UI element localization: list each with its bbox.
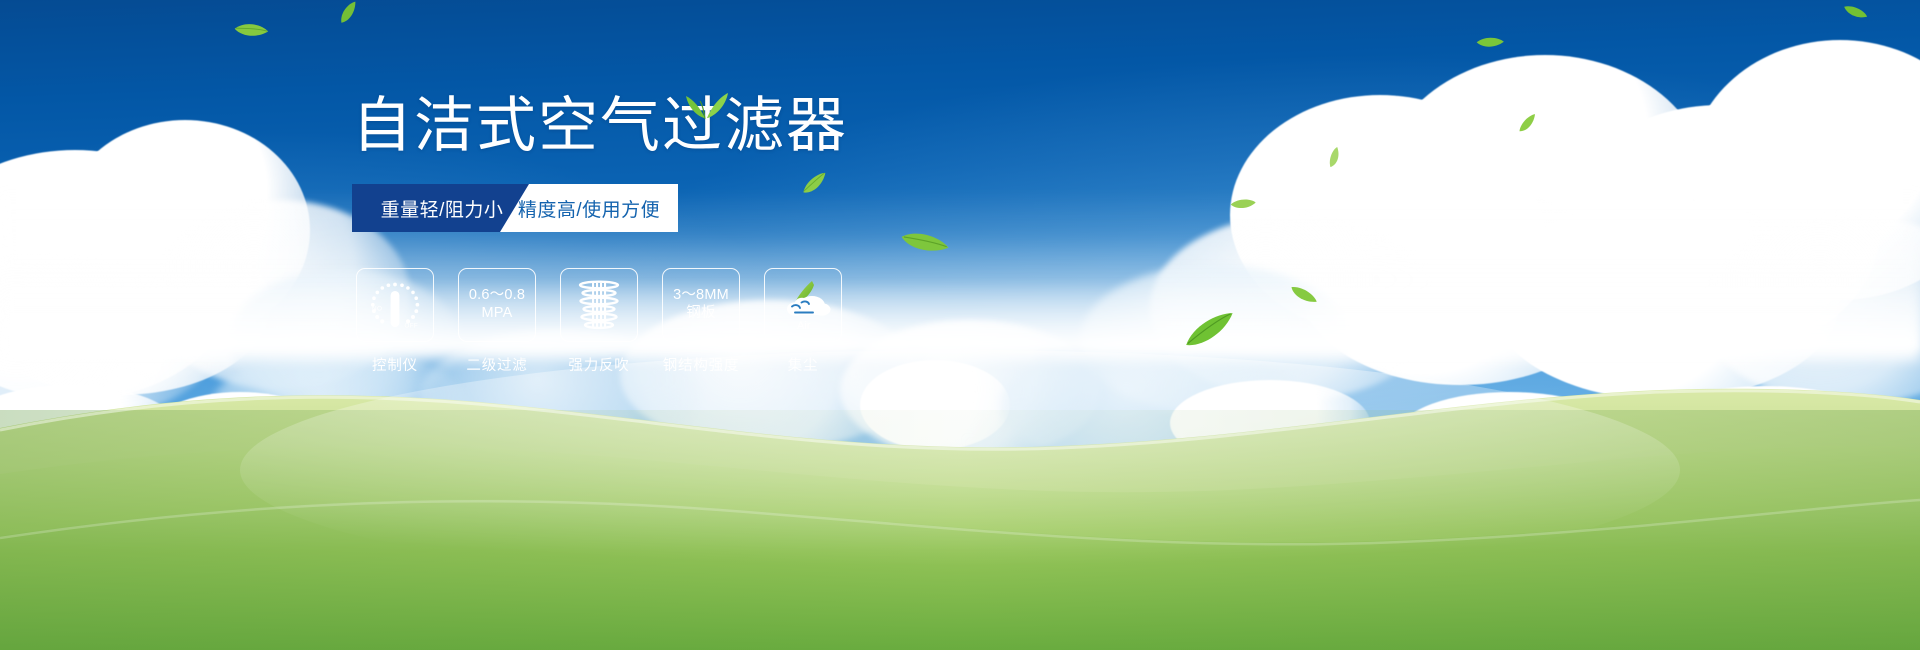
grass-ground <box>0 350 1920 650</box>
gauge-no-label: NO <box>372 306 382 313</box>
pressure-range-text: 0.6～0.8 <box>469 287 525 305</box>
feature-label: 二级过滤 <box>458 354 536 375</box>
two-leaf-sprout-icon <box>682 84 730 125</box>
cloud-air-leaf-icon: Air <box>772 277 834 333</box>
tab-label: 重量轻/阻力小 <box>381 195 504 222</box>
page-title: 自洁式空气过滤器 <box>352 96 872 156</box>
feature-label: 集尘 <box>764 354 842 375</box>
air-text: Air <box>797 320 811 332</box>
product-banner: 自洁式空气过滤器 重量轻/阻力小 精度高/使用方便 <box>0 0 1920 650</box>
steel-thickness-text: 3～8MM <box>673 287 729 305</box>
pressure-unit-text: MPA <box>482 305 513 323</box>
feature-label: 钢结构强度 <box>662 354 740 375</box>
feature-item-pressure[interactable]: 0.6～0.8 MPA 二级过滤 <box>458 268 536 375</box>
feature-icon-box: 0.6～0.8 MPA <box>458 268 536 342</box>
feature-icon-box: 3～8MM 钢板 <box>662 268 740 342</box>
tab-highprecision-easyuse[interactable]: 精度高/使用方便 <box>500 184 678 232</box>
feature-icon-box: NO OFF <box>356 268 434 342</box>
feature-tabs: 重量轻/阻力小 精度高/使用方便 <box>352 184 678 232</box>
feature-icon-row: NO OFF 控制仪 0.6～0.8 MPA 二级过滤 <box>356 268 842 375</box>
feature-item-steel[interactable]: 3～8MM 钢板 钢结构强度 <box>662 268 740 375</box>
banner-content: 自洁式空气过滤器 重量轻/阻力小 精度高/使用方便 <box>352 96 872 232</box>
feature-item-controller[interactable]: NO OFF 控制仪 <box>356 268 434 375</box>
feature-item-backblow[interactable]: 强力反吹 <box>560 268 638 375</box>
filter-cartridge-icon <box>572 277 626 333</box>
feature-icon-box: Air <box>764 268 842 342</box>
feature-label: 控制仪 <box>356 354 434 375</box>
horizon-haze-band-2 <box>0 280 1920 350</box>
tab-label: 精度高/使用方便 <box>518 195 660 222</box>
gauge-off-label: OFF <box>405 323 419 330</box>
feature-item-dustcollect[interactable]: Air 集尘 <box>764 268 842 375</box>
feature-icon-box <box>560 268 638 342</box>
feature-label: 强力反吹 <box>560 354 638 375</box>
gauge-dial-icon: NO OFF <box>364 278 426 332</box>
steel-plate-text: 钢板 <box>686 305 715 323</box>
